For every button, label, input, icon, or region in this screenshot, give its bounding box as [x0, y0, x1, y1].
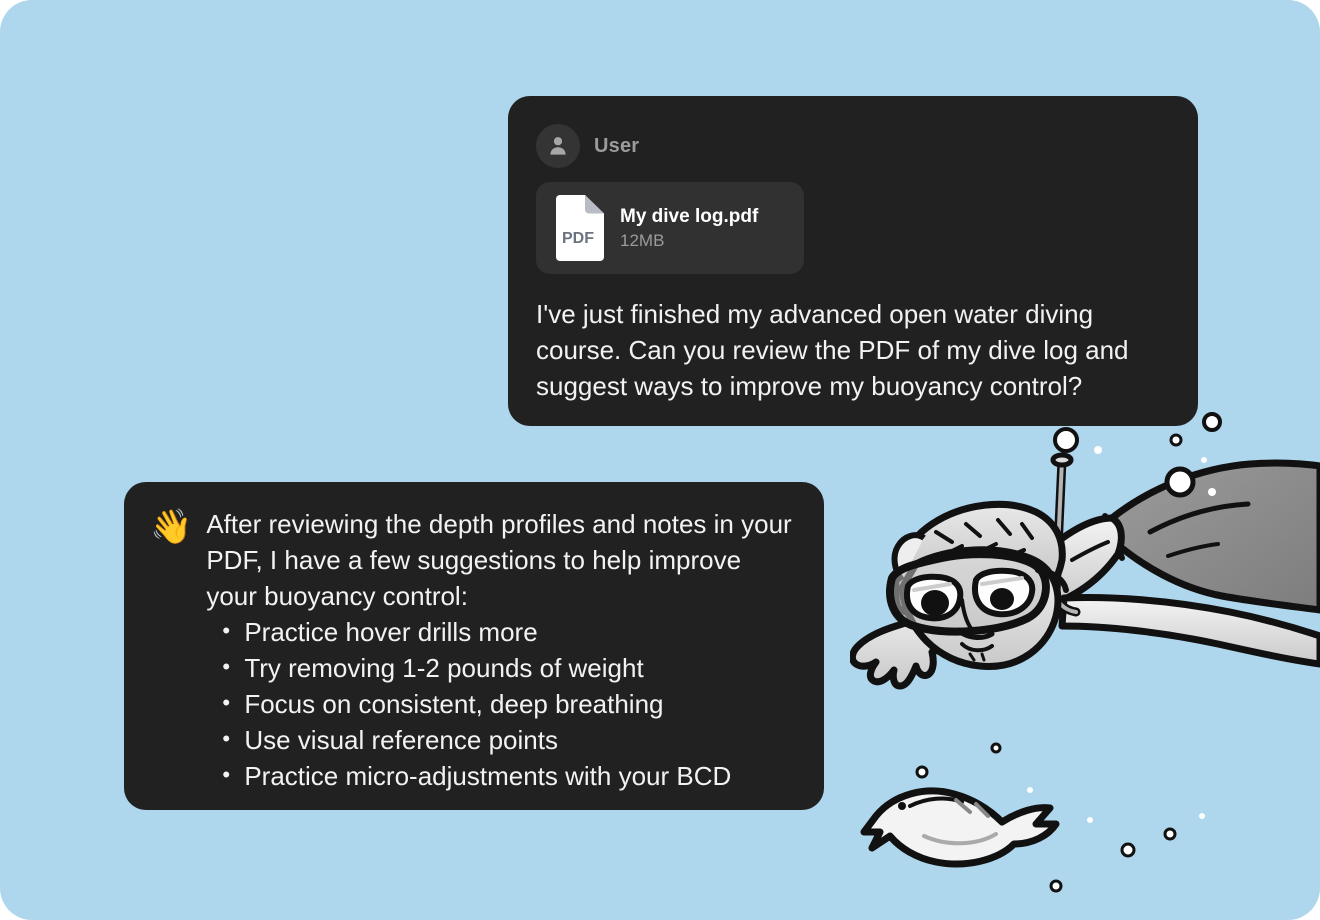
person-icon [547, 135, 569, 157]
diver-far-arm [1062, 598, 1320, 664]
avatar [536, 124, 580, 168]
suggestion-list: Practice hover drills more Try removing … [206, 614, 798, 794]
waving-hand-emoji: 👋 [150, 508, 192, 546]
list-item: Use visual reference points [244, 722, 798, 758]
pdf-file-icon: PDF [552, 195, 604, 261]
message-header: User [536, 122, 1170, 170]
attachment-card[interactable]: PDF My dive log.pdf 12MB [536, 182, 804, 274]
user-message-text: I've just finished my advanced open wate… [536, 296, 1170, 404]
attachment-file-name: My dive log.pdf [620, 206, 758, 228]
list-item: Practice micro-adjustments with your BCD [244, 758, 798, 794]
list-item: Try removing 1-2 pounds of weight [244, 650, 798, 686]
diver-head [890, 504, 1066, 666]
fish [864, 791, 1056, 864]
list-item: Practice hover drills more [244, 614, 798, 650]
user-message-bubble: User PDF My dive log.pdf 12MB I've just … [508, 96, 1198, 426]
assistant-message-bubble: 👋 After reviewing the depth profiles and… [124, 482, 824, 810]
assistant-message-row: 👋 After reviewing the depth profiles and… [150, 506, 798, 794]
snorkel [1053, 455, 1076, 612]
diver-near-arm [852, 595, 1002, 686]
attachment-meta: My dive log.pdf 12MB [620, 206, 758, 251]
assistant-intro-text: After reviewing the depth profiles and n… [206, 506, 798, 614]
screen-canvas: User PDF My dive log.pdf 12MB I've just … [0, 0, 1320, 920]
svg-text:PDF: PDF [562, 230, 594, 247]
attachment-file-size: 12MB [620, 231, 758, 251]
author-name: User [594, 135, 639, 158]
list-item: Focus on consistent, deep breathing [244, 686, 798, 722]
